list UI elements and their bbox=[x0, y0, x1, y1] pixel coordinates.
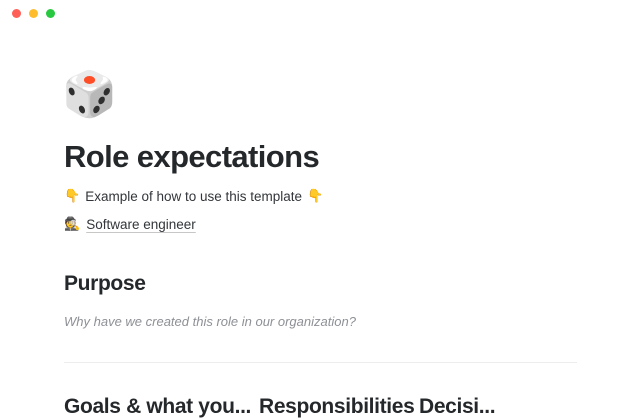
column-heading-decisions[interactable]: Decisi... bbox=[419, 394, 495, 419]
window-titlebar bbox=[0, 0, 640, 27]
purpose-placeholder-text[interactable]: Why have we created this role in our org… bbox=[64, 313, 576, 332]
template-hint-line: 👇 Example of how to use this template 👇 bbox=[64, 187, 576, 207]
template-hint-text: Example of how to use this template bbox=[85, 187, 302, 207]
traffic-lights bbox=[12, 9, 55, 18]
dice-icon[interactable]: 🎲 bbox=[62, 73, 576, 125]
columns-heading-row: Goals & what you... Responsibilities Dec… bbox=[64, 394, 576, 419]
pointing-down-icon-right: 👇 bbox=[307, 190, 323, 203]
document-body: 🎲 Role expectations 👇 Example of how to … bbox=[0, 73, 640, 419]
close-button[interactable] bbox=[12, 9, 21, 18]
role-line: 🕵️ Software engineer bbox=[64, 215, 576, 235]
section-divider bbox=[64, 362, 577, 363]
maximize-button[interactable] bbox=[46, 9, 55, 18]
column-heading-goals[interactable]: Goals & what you... bbox=[64, 394, 259, 419]
pointing-down-icon-left: 👇 bbox=[64, 190, 80, 203]
section-heading-purpose[interactable]: Purpose bbox=[64, 271, 576, 296]
minimize-button[interactable] bbox=[29, 9, 38, 18]
role-link-software-engineer[interactable]: Software engineer bbox=[86, 215, 196, 235]
detective-icon: 🕵️ bbox=[64, 218, 80, 231]
page-title[interactable]: Role expectations bbox=[64, 139, 576, 175]
column-heading-responsibilities[interactable]: Responsibilities bbox=[259, 394, 419, 419]
